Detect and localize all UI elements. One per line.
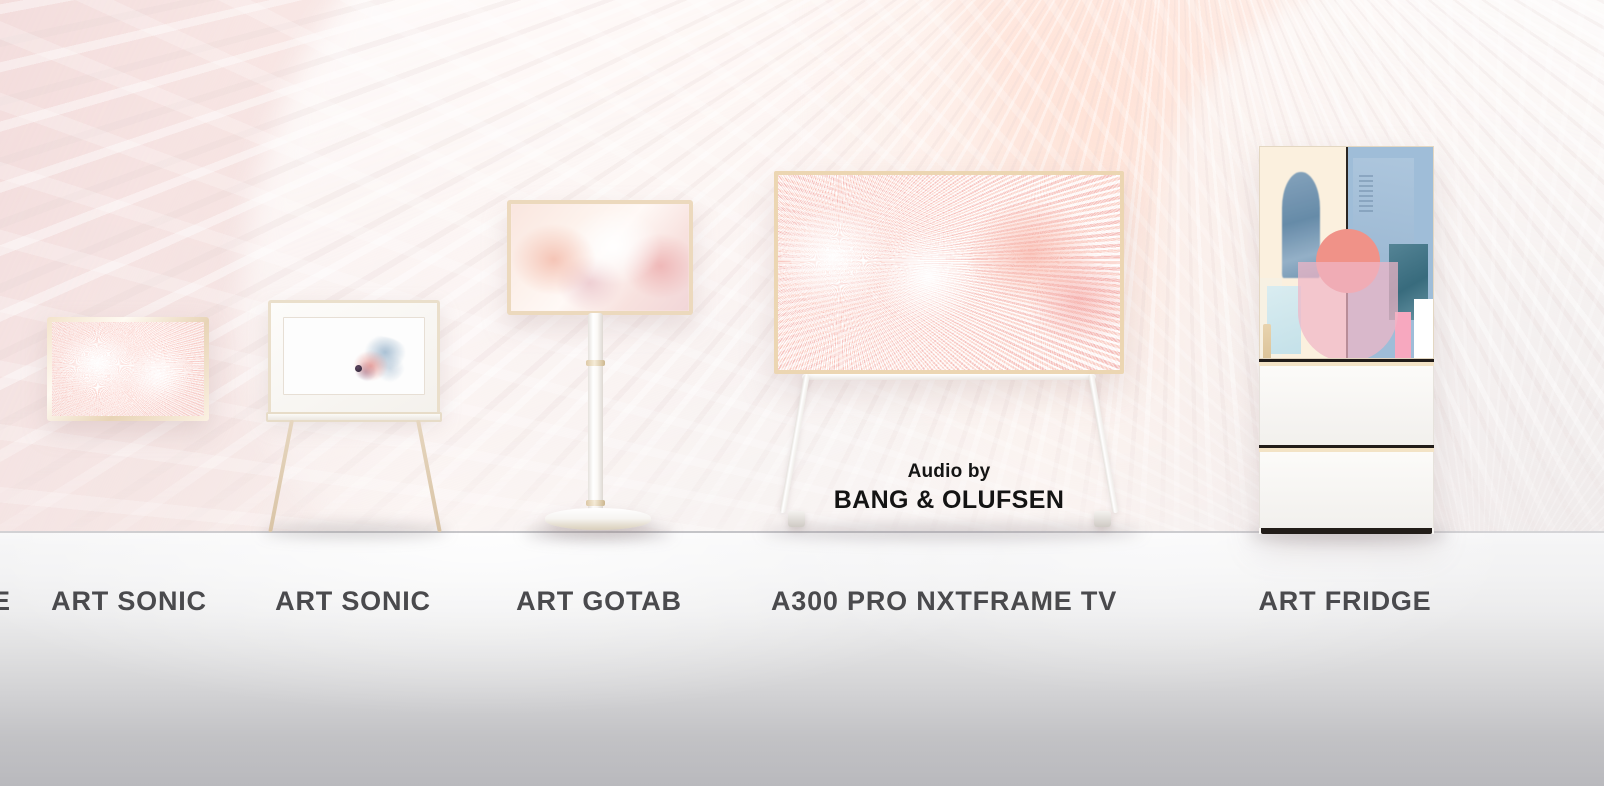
fridge-drawer-middle[interactable] — [1259, 366, 1434, 445]
easel-artwork-canvas — [283, 317, 425, 395]
fridge-seam-upper — [1259, 359, 1434, 366]
audio-by-label: Audio by — [774, 462, 1124, 483]
easel-panel — [268, 300, 440, 418]
artwork-betta-fish — [348, 336, 408, 384]
gotab-pole — [588, 313, 603, 513]
product-label-art-fridge: ART FRIDGE — [1259, 586, 1432, 617]
audio-by-bang-olufsen-badge: Audio by BANG & OLUFSEN — [774, 462, 1124, 514]
product-art-sonic-wall-frame[interactable] — [47, 317, 209, 421]
gotab-base-disc — [545, 508, 651, 530]
product-label-a300-pro-nxtframe-tv: A300 PRO NXTFRAME TV — [771, 586, 1117, 617]
product-label-row: E ART SONIC ART SONIC ART GOTAB A300 PRO… — [0, 586, 1604, 628]
product-art-sonic-easel[interactable] — [268, 300, 440, 532]
fridge-upper-doors[interactable] — [1259, 146, 1434, 359]
product-label-art-sonic-easel: ART SONIC — [275, 586, 431, 617]
gotab-screen — [507, 200, 693, 315]
fridge-plinth — [1261, 528, 1432, 534]
fridge-drawer-bottom[interactable] — [1259, 452, 1434, 528]
product-art-gotab[interactable] — [507, 200, 693, 538]
panel-text-lines — [1359, 175, 1373, 227]
product-art-fridge[interactable] — [1259, 146, 1434, 534]
tv-bezel — [774, 171, 1124, 374]
gotab-collar-upper — [586, 360, 605, 366]
product-lineup-scene: Audio by BANG & OLUFSEN — [0, 0, 1604, 786]
fridge-seam-lower — [1259, 445, 1434, 452]
panel-pink-block — [1395, 312, 1410, 358]
product-label-art-gotab: ART GOTAB — [516, 586, 682, 617]
easel-leg-right — [416, 420, 442, 532]
panel-pink-half-disc — [1298, 262, 1398, 359]
artwork-pleated-sculpture — [778, 175, 1120, 370]
frame-artwork-canvas — [52, 322, 204, 416]
product-label-art-sonic-wall: ART SONIC — [51, 586, 207, 617]
product-label-clipped: E — [0, 586, 11, 617]
gotab-collar-lower — [586, 500, 605, 506]
floor-surface — [0, 533, 1604, 786]
panel-tan-bar — [1263, 324, 1271, 358]
panel-mint-block — [1267, 286, 1301, 354]
bang-olufsen-wordmark: BANG & OLUFSEN — [774, 487, 1124, 514]
panel-white-block — [1414, 299, 1433, 358]
artwork-vignette — [52, 322, 204, 416]
artwork-floral-blur — [511, 204, 689, 311]
easel-leg-left — [268, 420, 294, 532]
tv-stand-crossbar — [802, 374, 1096, 380]
